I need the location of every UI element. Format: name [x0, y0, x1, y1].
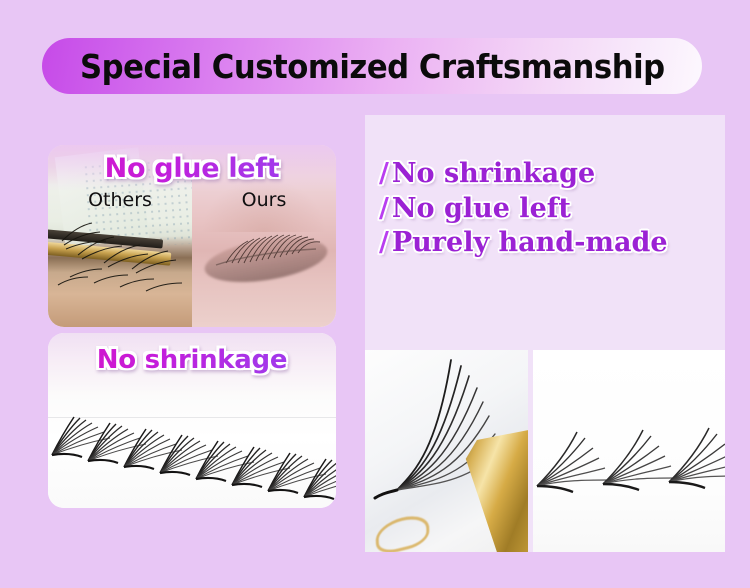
page-title: Special Customized Craftsmanship: [80, 47, 665, 86]
no-glue-left-headline: No glue left: [48, 153, 336, 184]
features-panel: /No shrinkage /No glue left /Purely hand…: [365, 115, 725, 552]
bullet-label: Purely hand-made: [392, 227, 668, 258]
label-ours: Ours: [192, 189, 336, 211]
comparison-labels: Others Ours: [48, 189, 336, 211]
comparison-card: No glue left Others Ours: [48, 145, 336, 327]
bullet-label: No shrinkage: [392, 158, 595, 189]
three-lash-fans: [533, 350, 725, 552]
bullet-slash-icon: /: [379, 193, 389, 224]
bullet-slash-icon: /: [379, 227, 389, 258]
no-shrinkage-card: No shrinkage: [48, 333, 336, 508]
bullet-slash-icon: /: [379, 158, 389, 189]
label-others: Others: [48, 189, 192, 211]
product-photo-strip: [365, 350, 725, 552]
three-fans-photo: [533, 350, 725, 552]
no-shrinkage-headline: No shrinkage: [48, 345, 336, 375]
bullet-no-glue-left: /No glue left: [379, 192, 719, 227]
tweezer-photo: [365, 350, 528, 552]
feature-bullet-list: /No shrinkage /No glue left /Purely hand…: [379, 157, 719, 261]
bullet-no-shrinkage: /No shrinkage: [379, 157, 719, 192]
bullet-purely-hand-made: /Purely hand-made: [379, 226, 719, 261]
title-banner: Special Customized Craftsmanship: [42, 38, 702, 94]
bullet-label: No glue left: [392, 193, 571, 224]
